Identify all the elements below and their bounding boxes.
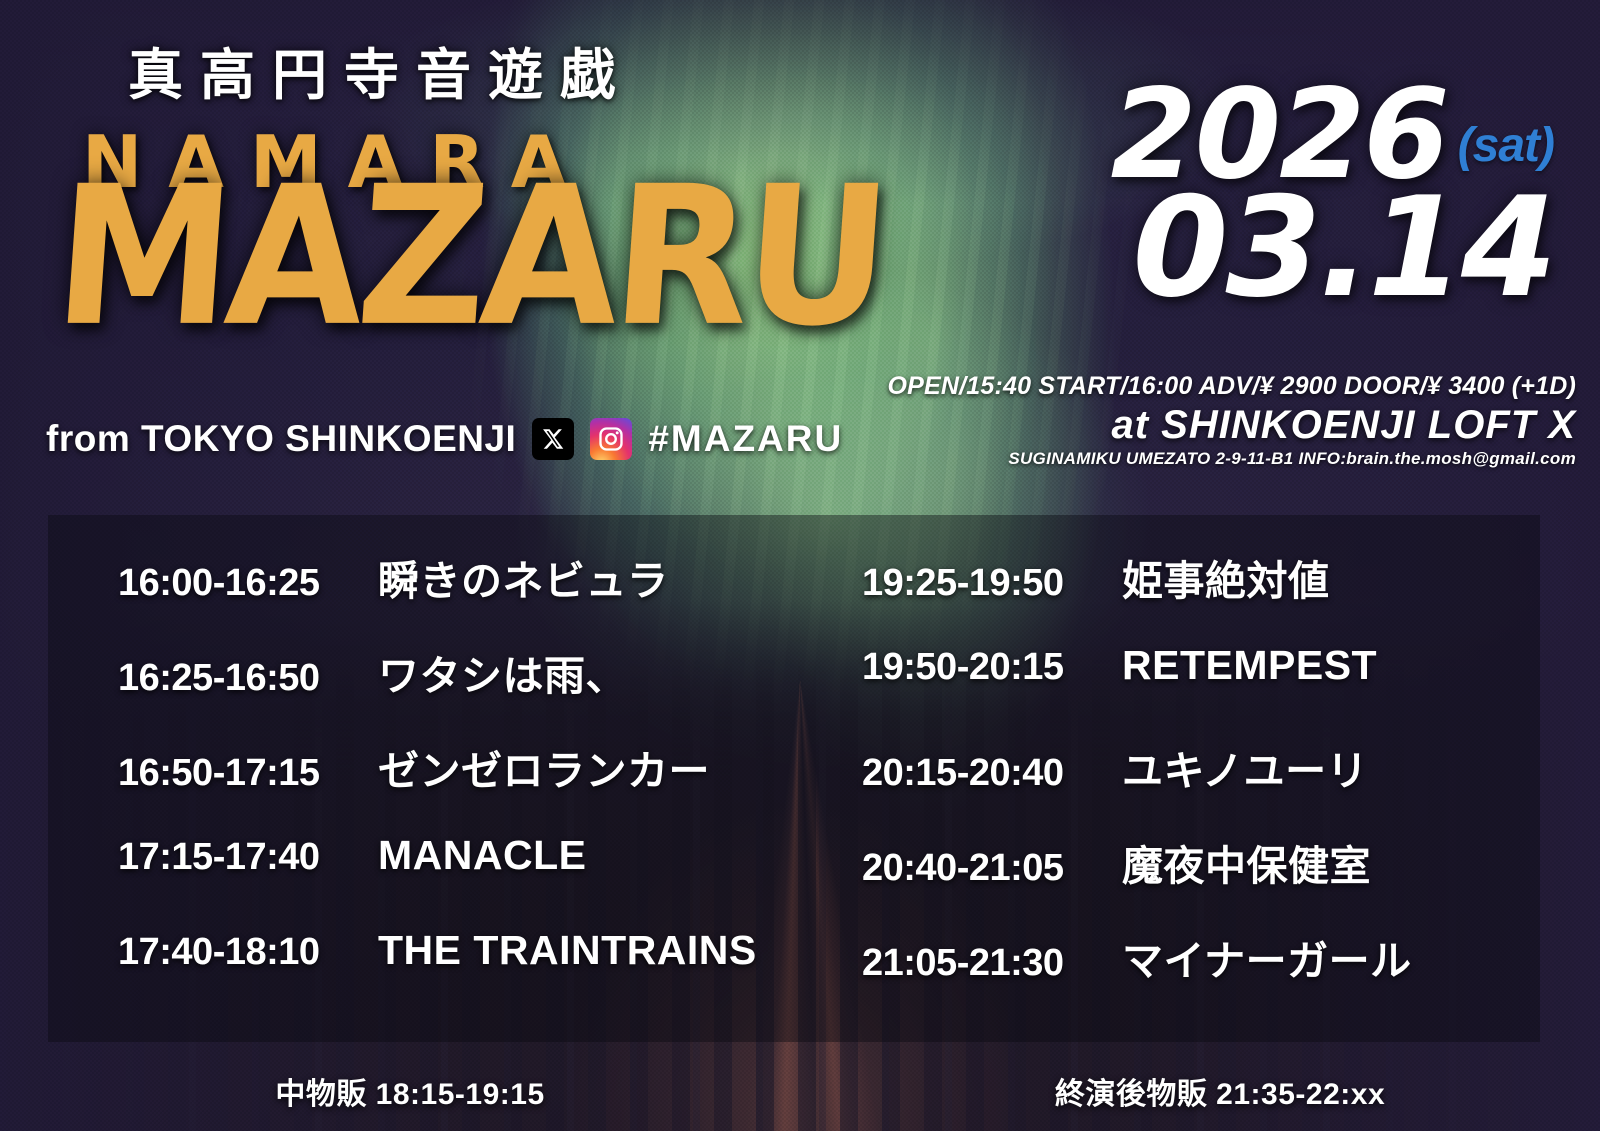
slot-act: THE TRAINTRAINS: [378, 927, 757, 974]
venue-name: at SHINKOENJI LOFT X: [887, 403, 1576, 448]
concert-flyer: 真高円寺音遊戯 NAMARA MAZARU from TOKYO SHINKOE…: [0, 0, 1600, 1131]
slot-act: MANACLE: [378, 832, 586, 879]
merch-footer: 中物販 18:15-19:15 終演後物販 21:35-22:xx: [0, 1069, 1600, 1113]
table-row: 16:00-16:25 瞬きのネビュラ: [118, 547, 794, 642]
hashtag-text: #MAZARU: [648, 418, 843, 460]
table-row: 19:25-19:50 姫事絶対値: [862, 547, 1540, 642]
slot-time: 20:40-21:05: [862, 847, 1122, 890]
merch-mid-block: 中物販 18:15-19:15: [0, 1069, 800, 1113]
slot-act: 魔夜中保健室: [1122, 832, 1371, 892]
origin-text: from TOKYO SHINKOENJI: [46, 418, 516, 460]
merch-mid-text: 中物販 18:15-19:15: [275, 1078, 544, 1111]
slot-act: 姫事絶対値: [1122, 547, 1330, 607]
slot-act: 瞬きのネビュラ: [378, 547, 669, 607]
slot-time: 16:25-16:50: [118, 657, 378, 700]
slot-time: 16:00-16:25: [118, 562, 378, 605]
logo-mazaru: MAZARU: [49, 161, 890, 353]
origin-and-social-line: from TOKYO SHINKOENJI #MAZARU: [46, 418, 843, 460]
table-row: 19:50-20:15 RETEMPEST: [862, 642, 1540, 737]
open-start-price-line: OPEN/15:40 START/16:00 ADV/¥ 2900 DOOR/¥…: [887, 372, 1576, 401]
slot-act: RETEMPEST: [1122, 642, 1377, 689]
table-row: 16:25-16:50 ワタシは雨、: [118, 642, 794, 737]
x-icon[interactable]: [532, 418, 574, 460]
table-row: 16:50-17:15 ゼンゼロランカー: [118, 737, 794, 832]
slot-time: 19:50-20:15: [862, 646, 1122, 689]
table-row: 20:40-21:05 魔夜中保健室: [862, 832, 1540, 927]
date-weekday: (sat): [1458, 122, 1554, 170]
timetable-column-right: 19:25-19:50 姫事絶対値 19:50-20:15 RETEMPEST …: [794, 547, 1540, 1042]
slot-time: 17:15-17:40: [118, 836, 378, 879]
merch-after-block: 終演後物販 21:35-22:xx: [800, 1069, 1600, 1113]
timetable-panel: 16:00-16:25 瞬きのネビュラ 16:25-16:50 ワタシは雨、 1…: [48, 515, 1540, 1042]
table-row: 17:15-17:40 MANACLE: [118, 832, 794, 927]
table-row: 17:40-18:10 THE TRAINTRAINS: [118, 927, 794, 1022]
slot-act: ゼンゼロランカー: [378, 737, 710, 797]
timetable-column-left: 16:00-16:25 瞬きのネビュラ 16:25-16:50 ワタシは雨、 1…: [48, 547, 794, 1042]
event-date-block: 2026 (sat) 03.14: [1111, 78, 1554, 310]
date-day: 03.14: [1111, 186, 1554, 310]
slot-time: 17:40-18:10: [118, 931, 378, 974]
slot-act: ユキノユーリ: [1122, 737, 1368, 797]
slot-act: ワタシは雨、: [378, 642, 627, 702]
venue-address-contact: SUGINAMIKU UMEZATO 2-9-11-B1 INFO:brain.…: [887, 449, 1576, 469]
table-row: 20:15-20:40 ユキノユーリ: [862, 737, 1540, 832]
instagram-icon[interactable]: [590, 418, 632, 460]
japanese-subtitle: 真高円寺音遊戯: [128, 30, 632, 110]
table-row: 21:05-21:30 マイナーガール: [862, 927, 1540, 1022]
slot-time: 19:25-19:50: [862, 562, 1122, 605]
slot-time: 16:50-17:15: [118, 752, 378, 795]
slot-act: マイナーガール: [1122, 927, 1412, 987]
merch-after-text: 終演後物販 21:35-22:xx: [1055, 1078, 1385, 1111]
timetable-columns: 16:00-16:25 瞬きのネビュラ 16:25-16:50 ワタシは雨、 1…: [48, 515, 1540, 1042]
venue-info-block: OPEN/15:40 START/16:00 ADV/¥ 2900 DOOR/¥…: [887, 372, 1576, 469]
slot-time: 21:05-21:30: [862, 942, 1122, 985]
slot-time: 20:15-20:40: [862, 752, 1122, 795]
